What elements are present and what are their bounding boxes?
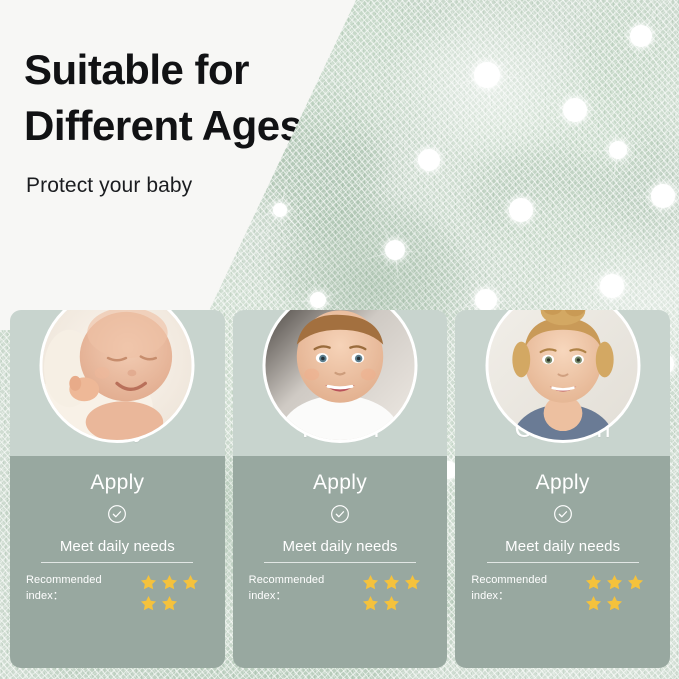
recommended-index-label: Recommended index： [471,573,567,605]
star-icon [382,594,401,613]
star-icon [584,573,603,592]
age-card-baby[interactable]: BabyApplyMeet daily needsRecommended ind… [10,310,225,668]
card-divider [41,562,193,563]
recommended-index-label: Recommended index： [26,573,122,605]
check-circle-icon [330,504,350,524]
needs-label: Meet daily needs [505,538,620,555]
card-top-section: Children [455,310,670,456]
recommended-index-label: Recommended index： [249,573,345,605]
star-icon [403,573,422,592]
card-bottom-section: ApplyMeet daily needsRecommended index： [10,456,225,668]
apply-label: Apply [90,471,144,495]
star-icon [361,573,380,592]
check-circle-icon [107,504,127,524]
star-icon [584,594,603,613]
star-rating [584,573,654,613]
star-icon [605,573,624,592]
needs-label: Meet daily needs [60,538,175,555]
apply-label: Apply [536,471,590,495]
recommended-index-row: Recommended index： [455,573,670,613]
star-icon [382,573,401,592]
star-icon [361,594,380,613]
card-divider [487,562,639,563]
age-card-children[interactable]: ChildrenApplyMeet daily needsRecommended… [455,310,670,668]
star-icon [160,594,179,613]
promo-banner: Suitable for Different Ages Protect your… [0,0,679,679]
card-top-section: Baby [10,310,225,456]
card-top-section: Toddler [233,310,448,456]
star-icon [605,594,624,613]
star-icon [139,573,158,592]
star-icon [139,594,158,613]
card-bottom-section: ApplyMeet daily needsRecommended index： [233,456,448,668]
card-portrait-photo [485,310,640,443]
card-divider [264,562,416,563]
card-portrait-photo [40,310,195,443]
headline-line-1: Suitable for [24,46,249,93]
star-icon [626,573,645,592]
card-bottom-section: ApplyMeet daily needsRecommended index： [455,456,670,668]
recommended-index-row: Recommended index： [233,573,448,613]
apply-label: Apply [313,471,367,495]
star-rating [361,573,431,613]
star-icon [160,573,179,592]
star-icon [181,573,200,592]
age-card-toddler[interactable]: ToddlerApplyMeet daily needsRecommended … [233,310,448,668]
check-circle-icon [553,504,573,524]
age-cards-row: BabyApplyMeet daily needsRecommended ind… [10,310,670,668]
star-rating [139,573,209,613]
needs-label: Meet daily needs [283,538,398,555]
card-portrait-photo [263,310,418,443]
recommended-index-row: Recommended index： [10,573,225,613]
